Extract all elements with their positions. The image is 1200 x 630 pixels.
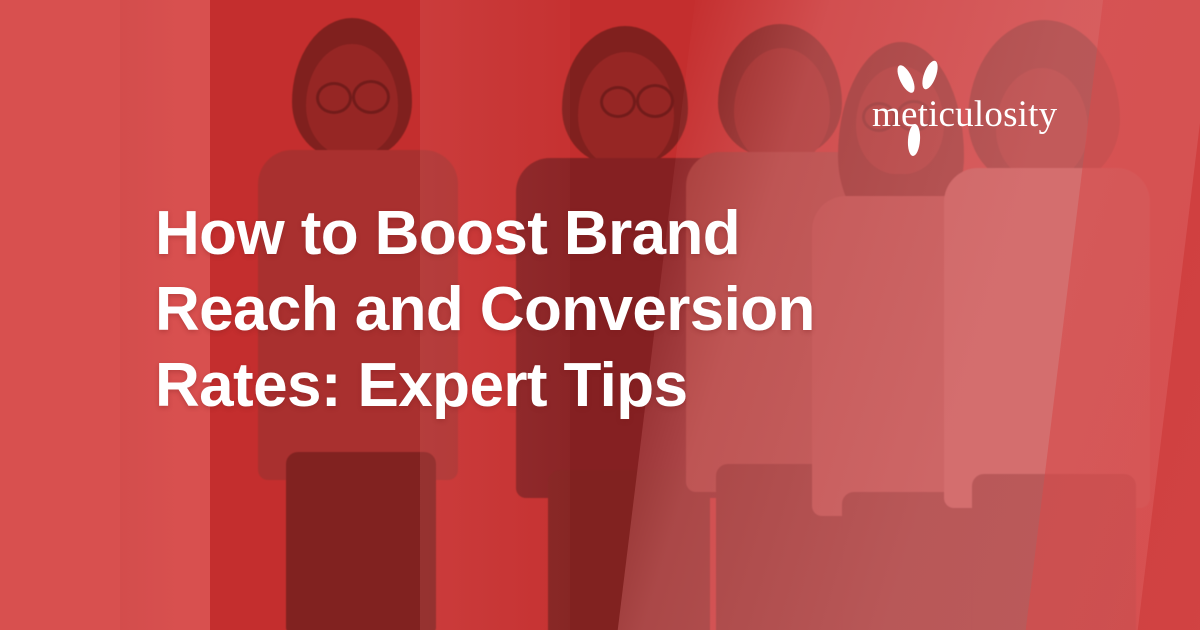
logo-wordmark: meticulosity	[872, 94, 1072, 136]
band-left-flat	[0, 0, 130, 630]
brand-logo[interactable]: meticulosity	[872, 52, 1072, 172]
petal-right-icon	[919, 59, 941, 91]
page-title: How to Boost Brand Reach and Conversion …	[155, 196, 985, 424]
title-line-2: Reach and Conversion	[155, 272, 985, 348]
title-line-1: How to Boost Brand	[155, 196, 985, 272]
petal-left-icon	[894, 63, 918, 95]
social-share-card: How to Boost Brand Reach and Conversion …	[0, 0, 1200, 630]
title-line-3: Rates: Expert Tips	[155, 348, 985, 424]
